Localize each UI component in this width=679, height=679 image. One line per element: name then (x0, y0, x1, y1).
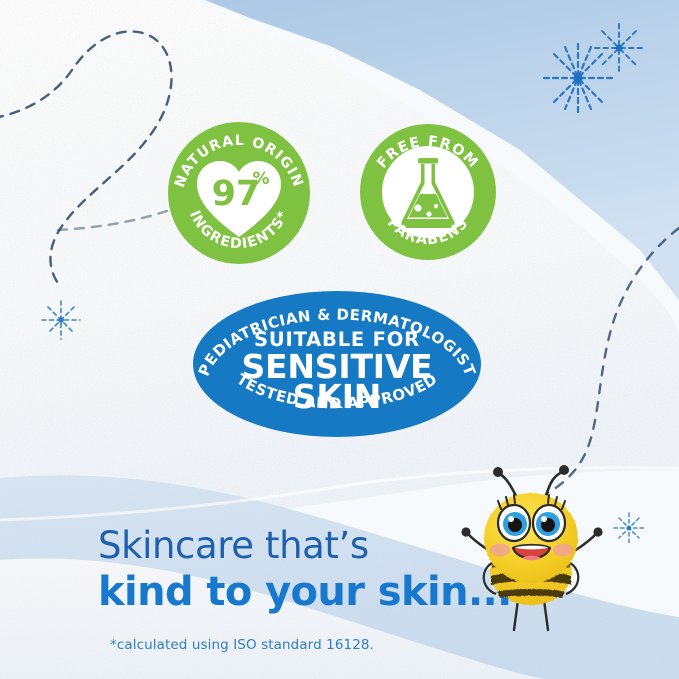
bee-hand-right (593, 527, 602, 536)
skincare-claims-banner: 97 % NATURAL ORIGIN INGREDIENTS* (0, 0, 679, 679)
bee-antenna-ball-left (493, 467, 503, 477)
footnote-text: *calculated using ISO standard 16128. (110, 637, 374, 653)
headline-block: Skincare that’s kind to your skin... (98, 527, 568, 615)
snowflake-top-right-large (544, 44, 612, 112)
bee-antennae (500, 472, 562, 496)
headline-line-1: Skincare that’s (98, 527, 568, 564)
bee-antenna-ball-right (559, 465, 569, 475)
headline-line-2: kind to your skin... (98, 570, 568, 615)
